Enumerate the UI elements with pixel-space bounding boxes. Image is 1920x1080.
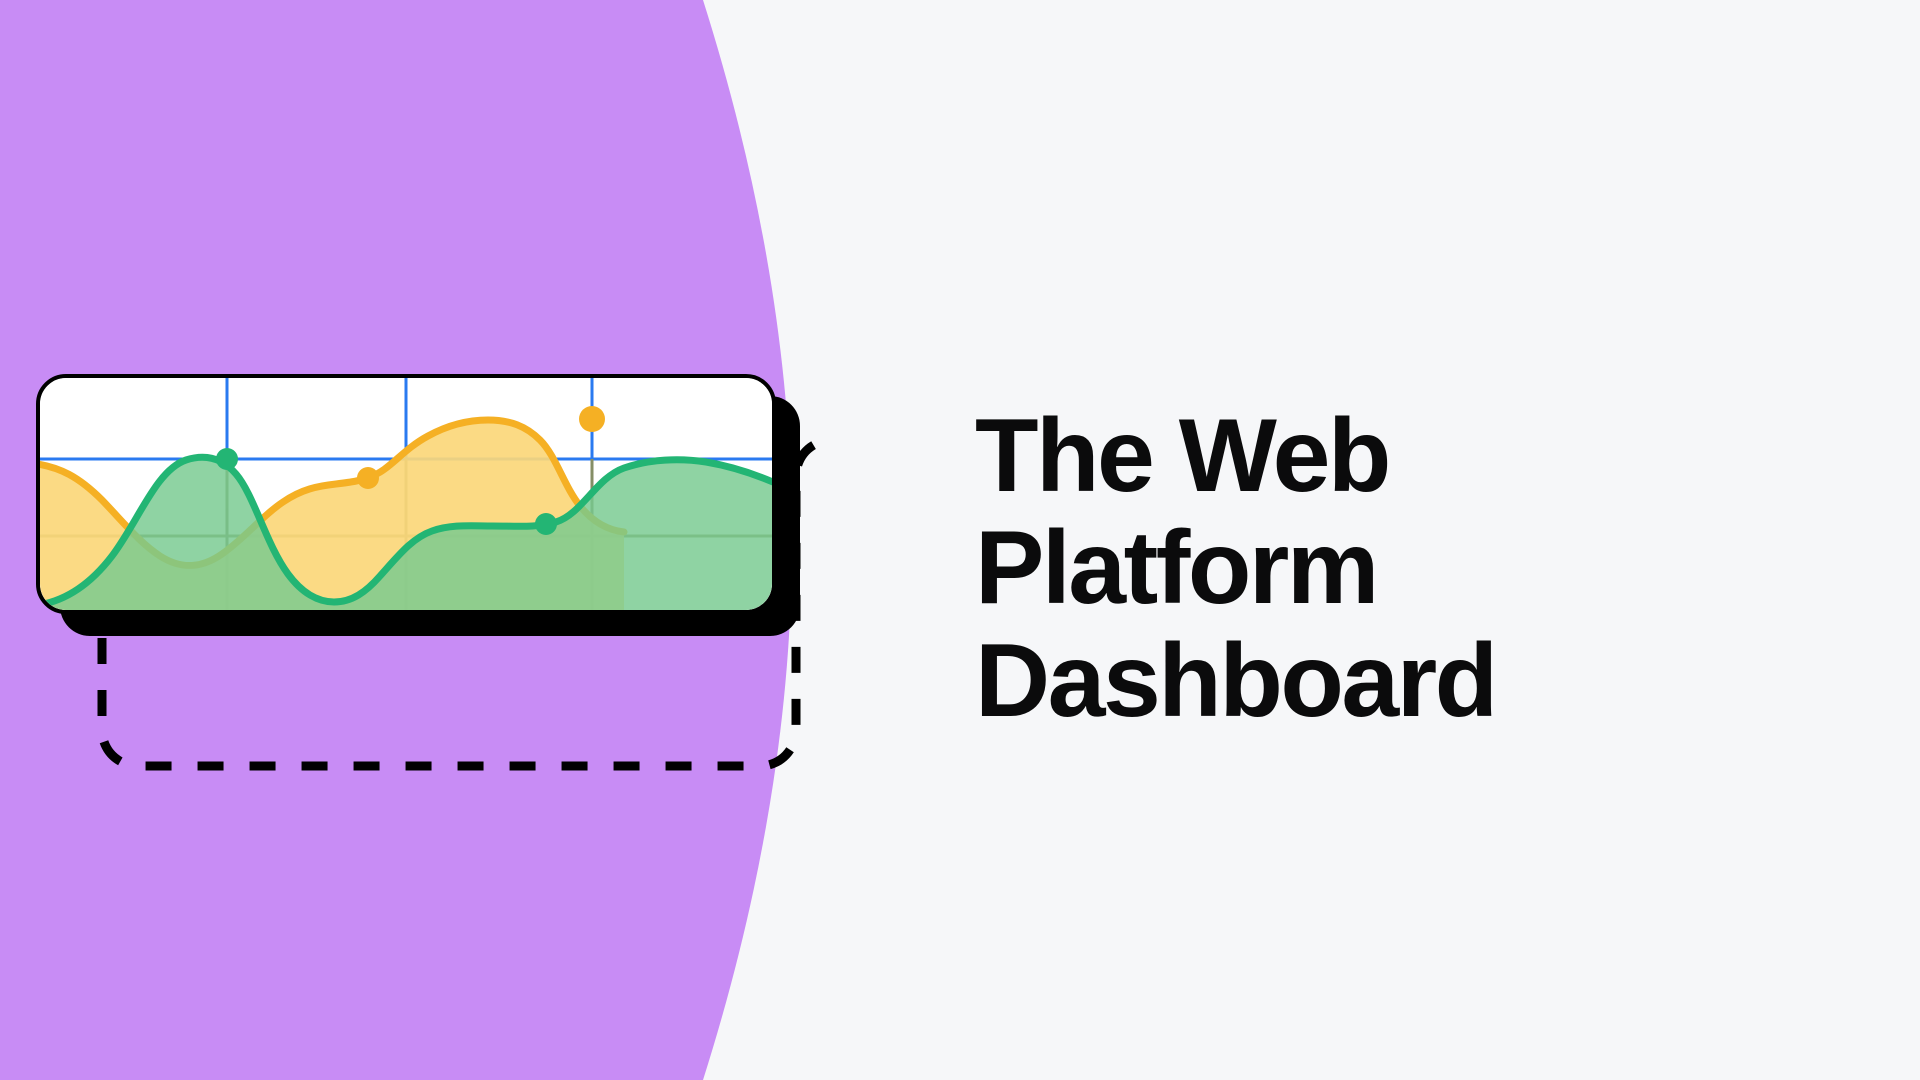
chart-card-wrapper: [36, 374, 836, 674]
page-title-line-1: The Web: [975, 400, 1775, 512]
chart-card[interactable]: [36, 374, 776, 614]
slide-canvas: The Web Platform Dashboard: [0, 0, 1920, 1080]
data-point-newly-2[interactable]: [535, 513, 557, 535]
page-title: The Web Platform Dashboard: [975, 400, 1775, 737]
area-chart[interactable]: [40, 378, 772, 610]
page-title-line-2: Platform: [975, 512, 1775, 624]
data-point-baseline-2[interactable]: [579, 406, 605, 432]
data-point-baseline-1[interactable]: [357, 467, 379, 489]
data-point-newly-1[interactable]: [216, 448, 238, 470]
page-title-line-3: Dashboard: [975, 625, 1775, 737]
